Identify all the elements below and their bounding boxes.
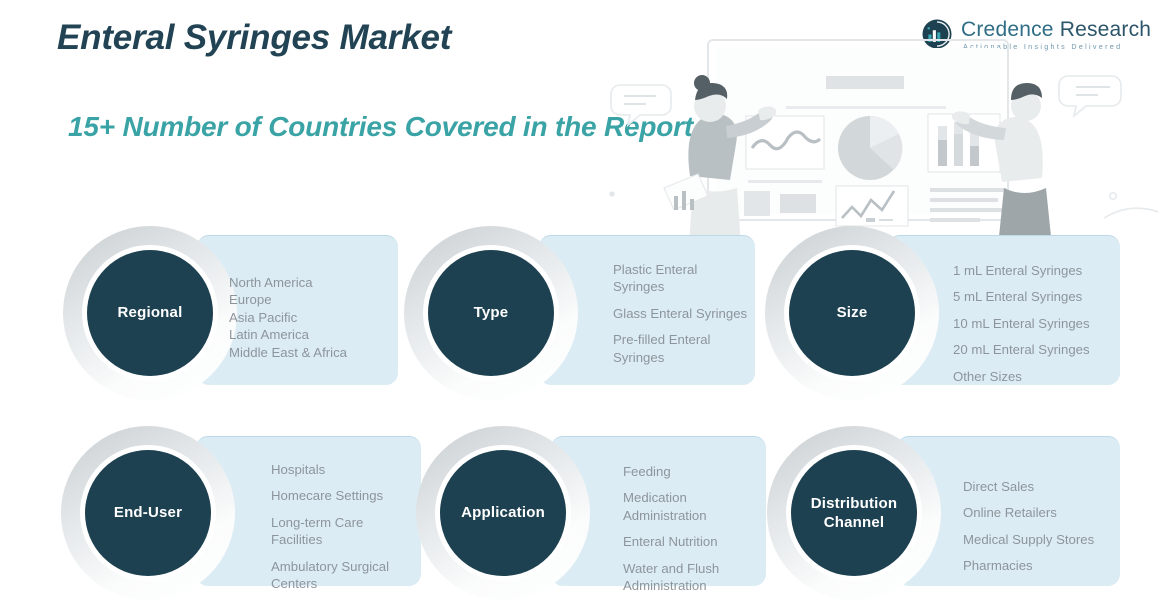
infographic-page: Enteral Syringes Market 15+ Number of Co… [0,0,1162,615]
list-item: Online Retailers [963,504,1139,521]
list-item: Medical Supply Stores [963,531,1139,548]
card-item-list: Direct Sales Online Retailers Medical Su… [963,478,1139,584]
list-item: 20 mL Enteral Syringes [953,341,1129,358]
card-label: Distribution Channel [791,494,917,533]
list-item: Glass Enteral Syringes [613,305,779,322]
list-item: Pre-filled Enteral Syringes [613,331,779,366]
list-item: North America [229,274,409,291]
list-item: Hospitals [271,461,443,478]
card-item-list: Plastic Enteral Syringes Glass Enteral S… [613,261,779,375]
list-item: 1 mL Enteral Syringes [953,262,1129,279]
card-circle[interactable]: Type [428,250,554,376]
card-circle[interactable]: Regional [87,250,213,376]
list-item: 5 mL Enteral Syringes [953,288,1129,305]
card-item-list: Feeding Medication Administration Entera… [623,463,789,604]
card-circle[interactable]: Application [440,450,566,576]
card-circle[interactable]: Size [789,250,915,376]
card-label: End-User [114,503,182,523]
card-label: Size [837,303,868,323]
list-item: Enteral Nutrition [623,533,789,550]
list-item: Plastic Enteral Syringes [613,261,779,296]
list-item: 10 mL Enteral Syringes [953,315,1129,332]
list-item: Asia Pacific [229,309,409,326]
list-item: Water and Flush Administration [623,560,789,595]
list-item: Medication Administration [623,489,789,524]
list-item: Other Sizes [953,368,1129,385]
card-item-list: North America Europe Asia Pacific Latin … [229,274,409,361]
list-item: Direct Sales [963,478,1139,495]
list-item: Feeding [623,463,789,480]
card-circle[interactable]: Distribution Channel [791,450,917,576]
list-item: Pharmacies [963,557,1139,574]
card-label: Type [474,303,509,323]
page-title: Enteral Syringes Market [57,18,451,58]
list-item: Middle East & Africa [229,344,409,361]
card-label: Regional [118,303,183,323]
list-item: Europe [229,291,409,308]
list-item: Latin America [229,326,409,343]
list-item: Ambulatory Surgical Centers [271,558,443,593]
presentation-illustration [598,28,1158,248]
card-circle[interactable]: End-User [85,450,211,576]
card-item-list: 1 mL Enteral Syringes 5 mL Enteral Syrin… [953,262,1129,394]
card-label: Application [461,503,545,523]
